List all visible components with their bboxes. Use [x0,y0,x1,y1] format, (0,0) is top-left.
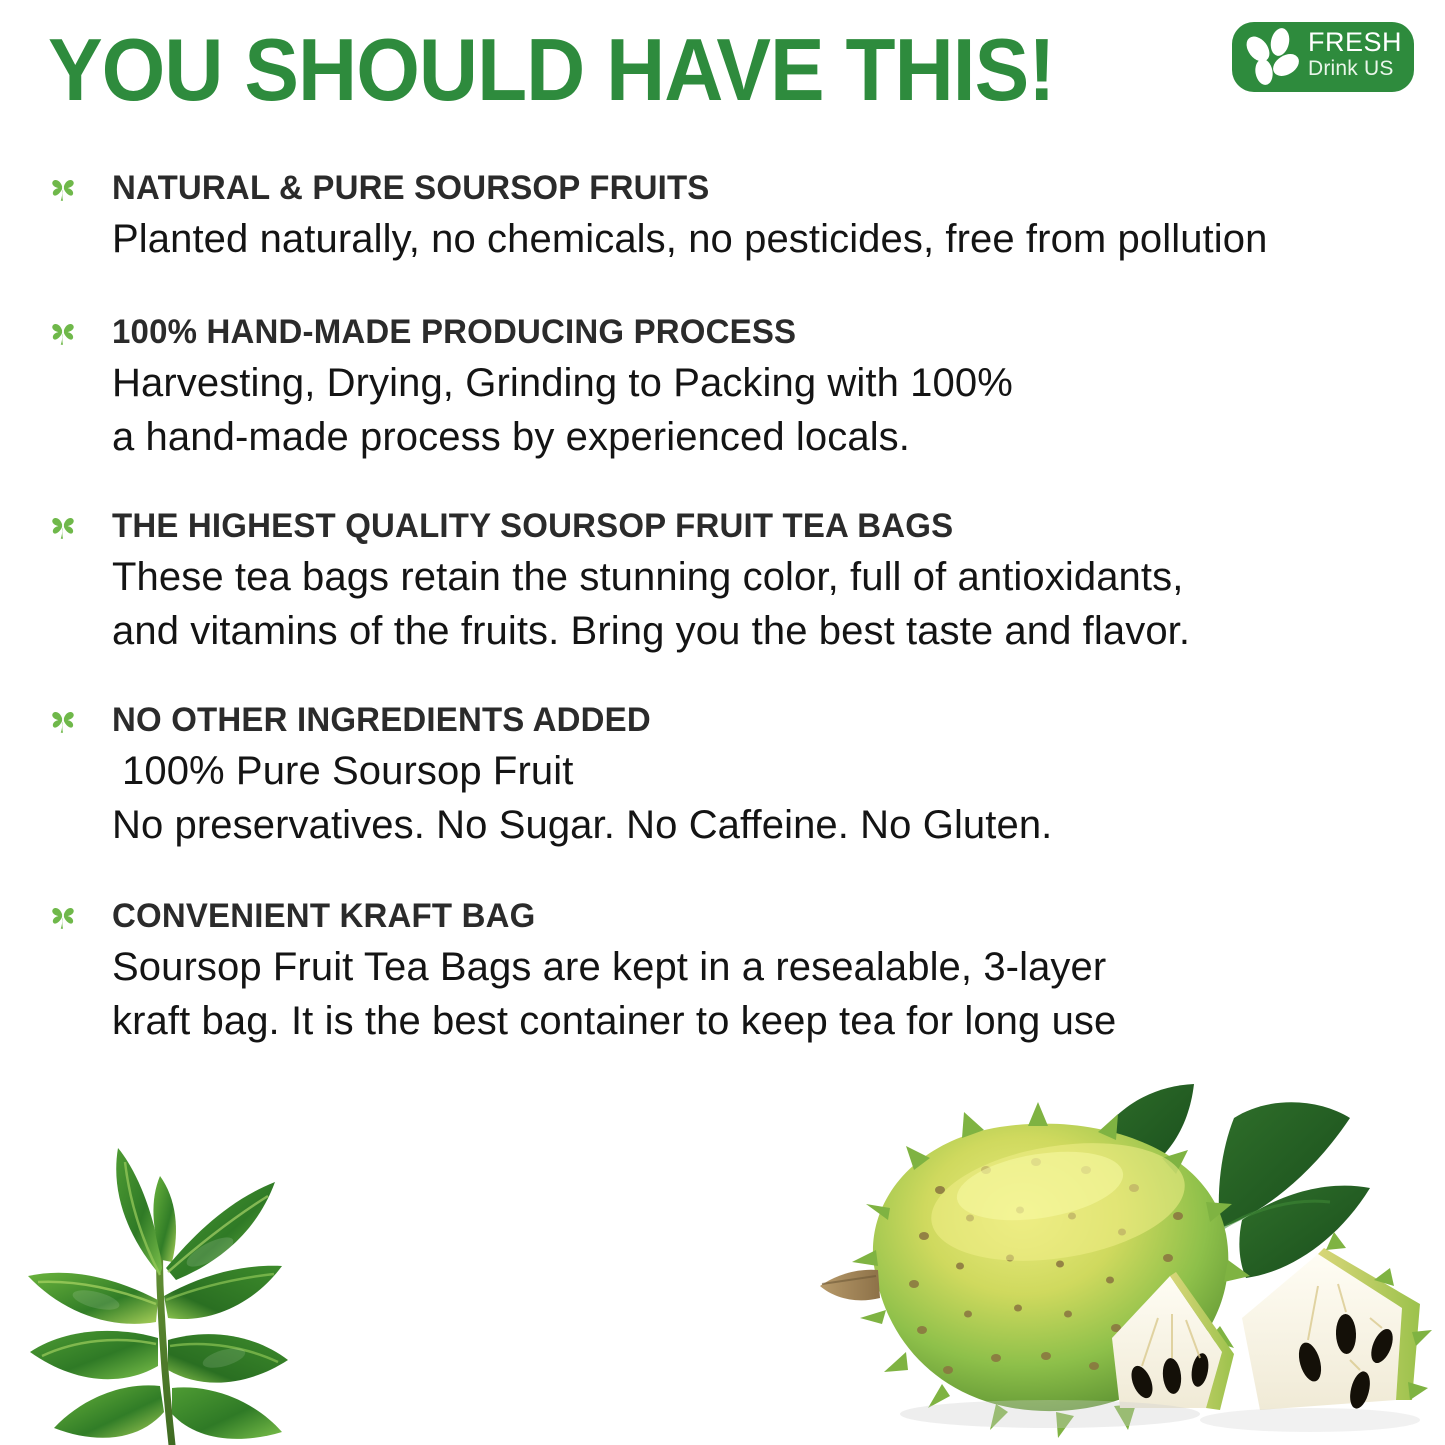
feature-item: NATURAL & PURE SOURSOP FRUITS Planted na… [0,166,1445,266]
four-leaf-clover-icon [48,318,82,352]
four-leaf-clover-icon [48,902,82,936]
feature-title: 100% HAND-MADE PRODUCING PROCESS [112,310,1405,354]
feature-body: Soursop Fruit Tea Bags are kept in a res… [112,940,1445,1048]
feature-body: These tea bags retain the stunning color… [112,550,1445,658]
product-imagery [0,1060,1445,1445]
feature-body: 100% Pure Soursop Fruit No preservatives… [112,744,1445,852]
four-leaf-clover-icon [48,706,82,740]
feature-body-line: Harvesting, Drying, Grinding to Packing … [112,356,1445,410]
logo-text: FRESH Drink US [1308,28,1412,86]
feature-title: NATURAL & PURE SOURSOP FRUITS [112,166,1405,210]
feature-body-line: No preservatives. No Sugar. No Caffeine.… [112,798,1445,852]
feature-item: CONVENIENT KRAFT BAG Soursop Fruit Tea B… [0,894,1445,1048]
header: YOU SHOULD HAVE THIS! FRESH Drink US [0,0,1445,140]
four-petal-leaf-icon [1242,27,1304,87]
feature-item: NO OTHER INGREDIENTS ADDED 100% Pure Sou… [0,698,1445,852]
feature-list: NATURAL & PURE SOURSOP FRUITS Planted na… [0,166,1445,1048]
logo-line-drink-us: Drink US [1308,57,1412,81]
feature-body: Harvesting, Drying, Grinding to Packing … [112,356,1445,464]
logo-line-fresh: FRESH [1308,28,1412,57]
feature-item: 100% HAND-MADE PRODUCING PROCESS Harvest… [0,310,1445,464]
feature-body-line: Planted naturally, no chemicals, no pest… [112,212,1445,266]
feature-body: Planted naturally, no chemicals, no pest… [112,212,1445,266]
feature-body-line: These tea bags retain the stunning color… [112,550,1445,604]
four-leaf-clover-icon [48,512,82,546]
feature-title: CONVENIENT KRAFT BAG [112,894,1405,938]
feature-body-line: Soursop Fruit Tea Bags are kept in a res… [112,940,1445,994]
fresh-drink-us-logo: FRESH Drink US [1232,22,1414,92]
soursop-fruit-with-slices-photo [790,1070,1440,1445]
feature-body-line: and vitamins of the fruits. Bring you th… [112,604,1445,658]
soursop-leaf-branch-photo [10,1100,470,1445]
feature-item: THE HIGHEST QUALITY SOURSOP FRUIT TEA BA… [0,504,1445,658]
feature-body-line: kraft bag. It is the best container to k… [112,994,1445,1048]
feature-title: THE HIGHEST QUALITY SOURSOP FRUIT TEA BA… [112,504,1405,548]
page-title: YOU SHOULD HAVE THIS! [48,22,1055,118]
feature-body-line: 100% Pure Soursop Fruit [112,744,1445,798]
feature-body-line: a hand-made process by experienced local… [112,410,1445,464]
infographic-page: YOU SHOULD HAVE THIS! FRESH Drink US [0,0,1445,1445]
feature-title: NO OTHER INGREDIENTS ADDED [112,698,1405,742]
four-leaf-clover-icon [48,174,82,208]
